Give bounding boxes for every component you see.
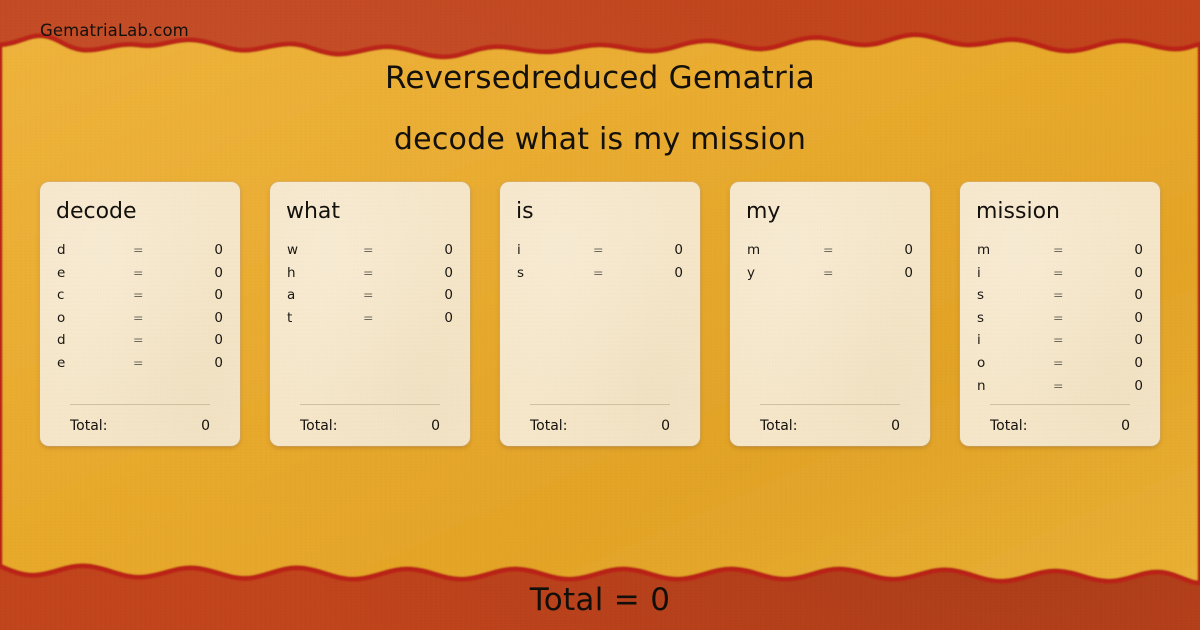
letter-value-row: o=0	[55, 310, 225, 333]
equals-sign: =	[1053, 355, 1093, 370]
equals-sign: =	[823, 242, 863, 257]
card-content: isi=0s=0Total:0	[515, 201, 685, 446]
letter-value: 0	[173, 242, 225, 258]
card-total-value: 0	[1121, 418, 1130, 434]
letter-value: 0	[173, 310, 225, 326]
letter-value: 0	[1093, 310, 1145, 326]
letter-value: 0	[403, 265, 455, 281]
letter: i	[975, 332, 1053, 348]
letter-value: 0	[403, 310, 455, 326]
letter-value: 0	[1093, 332, 1145, 348]
letter: c	[55, 287, 133, 303]
letter: i	[975, 265, 1053, 281]
letter: h	[285, 265, 363, 281]
letter-value-row: t=0	[285, 310, 455, 333]
letter-value-row: i=0	[975, 332, 1145, 355]
letter-value: 0	[1093, 242, 1145, 258]
gematria-result-image: GematriaLab.com Reversedreduced Gematria…	[0, 0, 1200, 630]
letter: w	[285, 242, 363, 258]
cipher-title: Reversedreduced Gematria	[0, 60, 1200, 96]
letter-value: 0	[1093, 287, 1145, 303]
card-total-label: Total:	[70, 418, 107, 434]
card-total-line: Total:0	[530, 418, 670, 434]
card-total-value: 0	[201, 418, 210, 434]
letter-value: 0	[173, 265, 225, 281]
word-card: whatw=0h=0a=0t=0Total:0	[270, 182, 470, 446]
letter: m	[745, 242, 823, 258]
equals-sign: =	[133, 265, 173, 280]
card-total-value: 0	[891, 418, 900, 434]
letter-value: 0	[403, 242, 455, 258]
equals-sign: =	[363, 242, 403, 257]
letter-value-row: c=0	[55, 287, 225, 310]
grand-total: Total = 0	[0, 582, 1200, 618]
site-logo[interactable]: GematriaLab.com	[40, 21, 189, 40]
equals-sign: =	[133, 242, 173, 257]
letter-value-row: m=0	[975, 242, 1145, 265]
letter-value-row: a=0	[285, 287, 455, 310]
card-content: decoded=0e=0c=0o=0d=0e=0Total:0	[55, 201, 225, 446]
letter: a	[285, 287, 363, 303]
card-total-label: Total:	[530, 418, 567, 434]
word-cards-container: decoded=0e=0c=0o=0d=0e=0Total:0whatw=0h=…	[40, 182, 1160, 446]
word-card: missionm=0i=0s=0s=0i=0o=0n=0Total:0	[960, 182, 1160, 446]
letter: o	[975, 355, 1053, 371]
letter-value-row: y=0	[745, 265, 915, 288]
letter-value-row: n=0	[975, 378, 1145, 401]
card-total-value: 0	[431, 418, 440, 434]
equals-sign: =	[363, 287, 403, 302]
card-total-label: Total:	[760, 418, 797, 434]
letter: d	[55, 332, 133, 348]
letter-value-row: d=0	[55, 242, 225, 265]
letter-value-list: w=0h=0a=0t=0	[285, 242, 455, 332]
letter: d	[55, 242, 133, 258]
equals-sign: =	[133, 355, 173, 370]
letter-value: 0	[173, 287, 225, 303]
letter: s	[975, 310, 1053, 326]
equals-sign: =	[363, 310, 403, 325]
letter-value: 0	[403, 287, 455, 303]
letter-value-row: h=0	[285, 265, 455, 288]
letter-value-row: d=0	[55, 332, 225, 355]
letter-value: 0	[1093, 378, 1145, 394]
card-divider	[530, 404, 670, 405]
letter: s	[975, 287, 1053, 303]
card-total-line: Total:0	[990, 418, 1130, 434]
letter: t	[285, 310, 363, 326]
card-divider	[300, 404, 440, 405]
equals-sign: =	[1053, 332, 1093, 347]
card-total-label: Total:	[990, 418, 1027, 434]
card-word: my	[746, 201, 915, 223]
letter-value-row: i=0	[515, 242, 685, 265]
letter-value: 0	[1093, 355, 1145, 371]
letter-value: 0	[863, 265, 915, 281]
card-total-section: Total:0	[530, 404, 670, 434]
word-card: isi=0s=0Total:0	[500, 182, 700, 446]
card-divider	[70, 404, 210, 405]
card-word: decode	[56, 201, 225, 223]
equals-sign: =	[1053, 242, 1093, 257]
word-card: decoded=0e=0c=0o=0d=0e=0Total:0	[40, 182, 240, 446]
card-content: missionm=0i=0s=0s=0i=0o=0n=0Total:0	[975, 201, 1145, 446]
equals-sign: =	[593, 265, 633, 280]
letter-value: 0	[173, 355, 225, 371]
letter: o	[55, 310, 133, 326]
letter-value: 0	[633, 265, 685, 281]
letter-value-list: d=0e=0c=0o=0d=0e=0	[55, 242, 225, 378]
card-divider	[990, 404, 1130, 405]
phrase-title: decode what is my mission	[0, 122, 1200, 157]
letter-value-row: m=0	[745, 242, 915, 265]
letter-value-row: e=0	[55, 265, 225, 288]
letter-value-row: e=0	[55, 355, 225, 378]
card-total-value: 0	[661, 418, 670, 434]
letter: i	[515, 242, 593, 258]
equals-sign: =	[133, 332, 173, 347]
letter: e	[55, 355, 133, 371]
card-total-line: Total:0	[300, 418, 440, 434]
letter-value-list: m=0i=0s=0s=0i=0o=0n=0	[975, 242, 1145, 400]
letter-value: 0	[633, 242, 685, 258]
letter-value-list: i=0s=0	[515, 242, 685, 287]
letter-value-list: m=0y=0	[745, 242, 915, 287]
letter-value-row: i=0	[975, 265, 1145, 288]
card-content: whatw=0h=0a=0t=0Total:0	[285, 201, 455, 446]
letter: e	[55, 265, 133, 281]
card-word: mission	[976, 201, 1145, 223]
card-total-section: Total:0	[760, 404, 900, 434]
card-total-line: Total:0	[760, 418, 900, 434]
letter-value: 0	[1093, 265, 1145, 281]
card-total-label: Total:	[300, 418, 337, 434]
letter: n	[975, 378, 1053, 394]
letter-value: 0	[173, 332, 225, 348]
equals-sign: =	[1053, 378, 1093, 393]
equals-sign: =	[1053, 310, 1093, 325]
letter-value-row: w=0	[285, 242, 455, 265]
equals-sign: =	[823, 265, 863, 280]
card-divider	[760, 404, 900, 405]
letter-value-row: o=0	[975, 355, 1145, 378]
equals-sign: =	[133, 287, 173, 302]
card-total-line: Total:0	[70, 418, 210, 434]
card-content: mym=0y=0Total:0	[745, 201, 915, 446]
letter: m	[975, 242, 1053, 258]
letter-value-row: s=0	[975, 310, 1145, 333]
card-word: is	[516, 201, 685, 223]
word-card: mym=0y=0Total:0	[730, 182, 930, 446]
letter-value-row: s=0	[975, 287, 1145, 310]
card-total-section: Total:0	[300, 404, 440, 434]
card-total-section: Total:0	[990, 404, 1130, 434]
equals-sign: =	[1053, 265, 1093, 280]
letter-value: 0	[863, 242, 915, 258]
letter: y	[745, 265, 823, 281]
letter: s	[515, 265, 593, 281]
card-total-section: Total:0	[70, 404, 210, 434]
equals-sign: =	[593, 242, 633, 257]
card-word: what	[286, 201, 455, 223]
equals-sign: =	[363, 265, 403, 280]
letter-value-row: s=0	[515, 265, 685, 288]
equals-sign: =	[1053, 287, 1093, 302]
equals-sign: =	[133, 310, 173, 325]
